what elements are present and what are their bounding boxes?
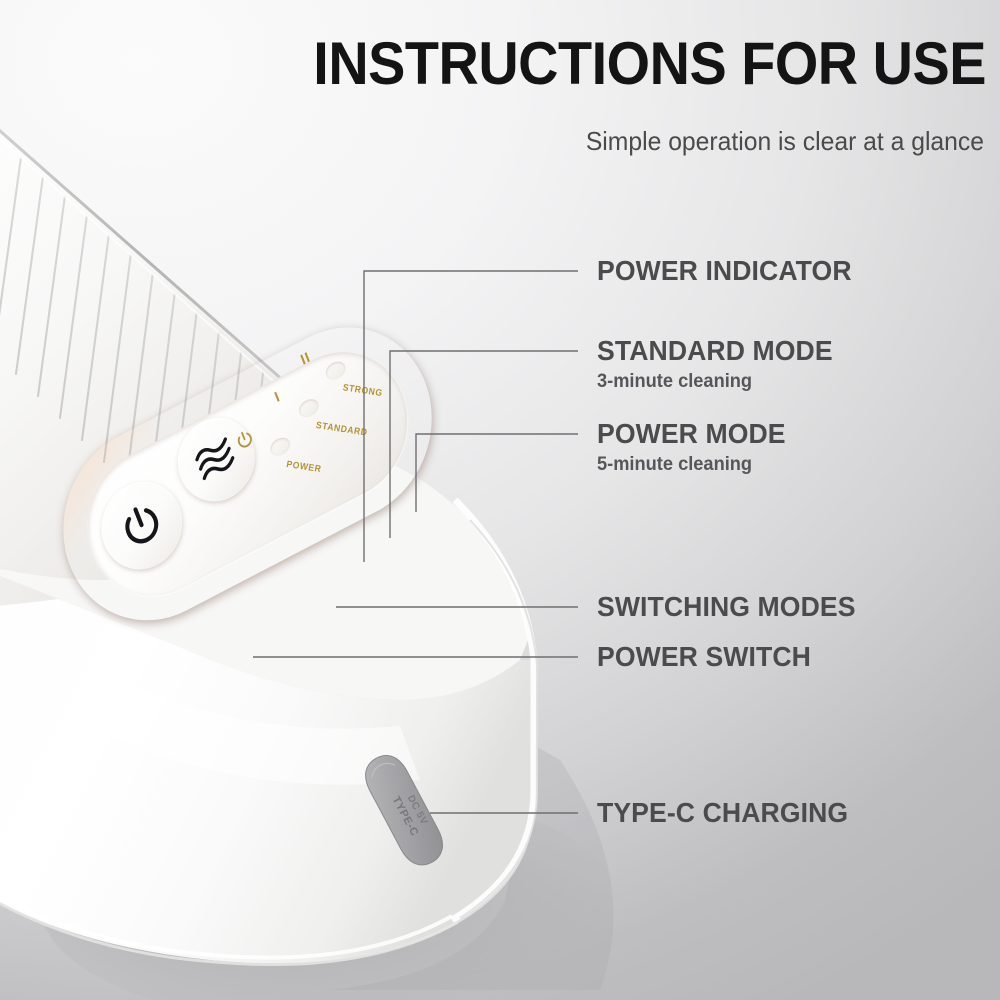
infographic-canvas: TYPE-C DC 5V bbox=[0, 0, 1000, 1000]
annotation-type-c-charging: TYPE-C CHARGING bbox=[597, 797, 861, 829]
annotation-subtitle: 3-minute cleaning bbox=[597, 371, 835, 393]
annotation-title: STANDARD MODE bbox=[597, 335, 833, 367]
annotation-power-switch: POWER SWITCH bbox=[597, 641, 822, 673]
annotation-standard-mode: STANDARD MODE 3-minute cleaning bbox=[597, 335, 845, 393]
leader-power-mode bbox=[416, 434, 578, 512]
annotation-title: POWER MODE bbox=[597, 418, 786, 450]
annotation-title: POWER INDICATOR bbox=[597, 255, 852, 287]
leader-power-indicator bbox=[364, 271, 578, 562]
page-subtitle: Simple operation is clear at a glance bbox=[49, 128, 984, 154]
annotation-title: SWITCHING MODES bbox=[597, 591, 856, 623]
annotation-title: POWER SWITCH bbox=[597, 641, 811, 673]
page-title: INSTRUCTIONS FOR USE bbox=[69, 34, 986, 94]
annotation-subtitle: 5-minute cleaning bbox=[597, 454, 788, 476]
leader-standard-mode bbox=[390, 351, 578, 538]
annotation-power-mode: POWER MODE 5-minute cleaning bbox=[597, 418, 796, 476]
annotation-title: TYPE-C CHARGING bbox=[597, 797, 848, 829]
annotation-power-indicator: POWER INDICATOR bbox=[597, 255, 865, 287]
annotation-switching-modes: SWITCHING MODES bbox=[597, 591, 869, 623]
